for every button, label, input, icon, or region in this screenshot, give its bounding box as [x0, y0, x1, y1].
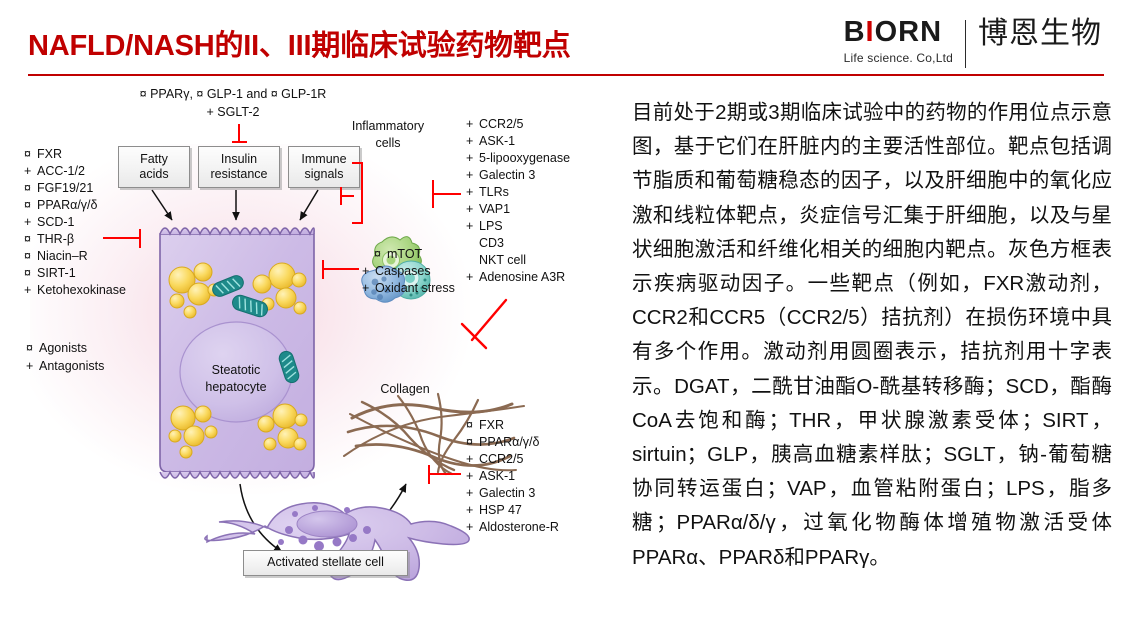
target-marker: ¤ — [24, 265, 37, 282]
target-marker: + — [466, 468, 479, 485]
target-label: ACC-1/2 — [37, 164, 85, 178]
collagen-label: Collagen — [350, 382, 460, 396]
hepatocyte-label-line2: hepatocyte — [186, 379, 286, 396]
target-label: Galectin 3 — [479, 486, 535, 500]
inflammatory-target-item: +VAP1 — [466, 201, 510, 218]
inflammatory-target-item: +LPS — [466, 218, 503, 235]
slide-root: NAFLD/NASH的II、III期临床试验药物靶点 BIORN Life sc… — [0, 0, 1134, 638]
target-label: Adenosine A3R — [479, 270, 565, 284]
stellate-cell-caption-text: Activated stellate cell — [267, 555, 384, 569]
inflammatory-target-item: +ASK-1 — [466, 133, 515, 150]
left-target-item: ¤PPARα/γ/δ — [24, 197, 98, 214]
target-marker: + — [466, 485, 479, 502]
stellate-target-item: +ASK-1 — [466, 468, 515, 485]
inflammatory-target-item: +TLRs — [466, 184, 509, 201]
target-marker: + — [466, 218, 479, 235]
target-label: PPARα/γ/δ — [37, 198, 98, 212]
left-target-item: +ACC-1/2 — [24, 163, 85, 180]
target-marker: ¤ — [24, 180, 37, 197]
target-label: TLRs — [479, 185, 509, 199]
driver-box-immune-line2: signals — [289, 167, 359, 182]
target-marker: + — [466, 116, 479, 133]
logo-latin-block: BIORN Life science. Co,Ltd — [844, 18, 965, 65]
target-label: FXR — [37, 147, 62, 161]
driver-box-insulin-resistance[interactable]: Insulin resistance — [198, 146, 280, 188]
target-label: mTOT — [387, 247, 422, 261]
inflammatory-target-item: +5-lipooxygenase — [466, 150, 570, 167]
target-label: CCR2/5 — [479, 117, 523, 131]
target-marker: + — [362, 280, 375, 297]
target-marker: + — [466, 184, 479, 201]
stellate-target-item: ¤FXR — [466, 417, 504, 434]
logo-word-before: B — [844, 16, 866, 48]
mito-target-item: +Oxidant stress — [362, 280, 455, 297]
target-marker: ¤ — [374, 246, 387, 263]
target-marker: + — [466, 451, 479, 468]
left-target-item: +Ketohexokinase — [24, 282, 126, 299]
left-target-item: ¤SIRT-1 — [24, 265, 76, 282]
stellate-cell-caption-box[interactable]: Activated stellate cell — [243, 550, 408, 576]
target-label: VAP1 — [479, 202, 510, 216]
target-marker: ¤ — [466, 417, 479, 434]
logo-tagline: Life science. Co,Ltd — [844, 51, 953, 65]
stellate-target-item: +Aldosterone-R — [466, 519, 559, 536]
driver-box-fatty-acids-line2: acids — [119, 167, 189, 182]
inhibitor-mark-collagen — [460, 284, 550, 354]
target-marker: + — [24, 282, 37, 299]
description-text: 目前处于2期或3期临床试验中的药物的作用位点示意图，基于它们在肝脏内的主要活性部… — [632, 96, 1112, 575]
target-label: FGF19/21 — [37, 181, 93, 195]
target-marker: + — [466, 519, 479, 536]
target-marker: + — [466, 201, 479, 218]
driver-box-immune-line1: Immune — [289, 152, 359, 167]
stellate-target-item: +Galectin 3 — [466, 485, 535, 502]
driver-box-fatty-acids[interactable]: Fatty acids — [118, 146, 190, 188]
bracket-inflammatory-left — [352, 162, 363, 224]
stellate-target-item: +CCR2/5 — [466, 451, 523, 468]
target-marker: ¤ — [24, 197, 37, 214]
inflammatory-target-item: +CCR2/5 — [466, 116, 523, 133]
target-label: SIRT-1 — [37, 266, 76, 280]
target-marker: + — [466, 150, 479, 167]
target-label: Aldosterone-R — [479, 520, 559, 534]
legend-label-antagonist: Antagonists — [39, 359, 104, 373]
company-logo: BIORN Life science. Co,Ltd 博恩生物 — [844, 18, 1102, 74]
target-label: Caspases — [375, 264, 431, 278]
legend-item-antagonists: +Antagonists — [26, 358, 104, 375]
top-annotation-line2: + SGLT-2 — [108, 104, 358, 121]
target-label: Ketohexokinase — [37, 283, 126, 297]
target-marker: ¤ — [24, 248, 37, 265]
target-label: CD3 — [479, 236, 504, 250]
top-annotation-line1: ¤ PPARγ, ¤ GLP-1 and ¤ GLP-1R — [108, 86, 358, 103]
target-label: Galectin 3 — [479, 168, 535, 182]
legend-item-agonists: ¤Agonists — [26, 340, 87, 357]
target-label: CCR2/5 — [479, 452, 523, 466]
driver-box-fatty-acids-line1: Fatty — [119, 152, 189, 167]
target-label: ASK-1 — [479, 134, 515, 148]
target-label: HSP 47 — [479, 503, 522, 517]
target-label: ASK-1 — [479, 469, 515, 483]
target-label: SCD-1 — [37, 215, 75, 229]
target-marker: + — [466, 502, 479, 519]
inflammatory-cells-line1: Inflammatory — [338, 118, 438, 135]
hepatocyte-label-line1: Steatotic — [186, 362, 286, 379]
driver-box-immune-signals[interactable]: Immune signals — [288, 146, 360, 188]
target-marker: + — [24, 214, 37, 231]
legend-marker-antagonist: + — [26, 358, 39, 375]
page-title: NAFLD/NASH的II、III期临床试验药物靶点 — [28, 22, 571, 64]
target-label: THR-β — [37, 232, 74, 246]
target-marker: + — [24, 163, 37, 180]
mito-target-item: ¤mTOT — [374, 246, 422, 263]
target-marker: + — [362, 263, 375, 280]
target-marker: + — [466, 133, 479, 150]
inflammatory-target-item: NKT cell — [466, 252, 526, 269]
logo-chinese-name: 博恩生物 — [978, 18, 1102, 50]
left-target-item: ¤FGF19/21 — [24, 180, 93, 197]
mito-target-item: +Caspases — [362, 263, 431, 280]
left-target-item: ¤FXR — [24, 146, 62, 163]
target-label: LPS — [479, 219, 503, 233]
logo-word-after: ORN — [875, 16, 942, 48]
target-label: NKT cell — [479, 253, 526, 267]
target-label: PPARα/γ/δ — [479, 435, 540, 449]
target-marker: ¤ — [24, 146, 37, 163]
header-divider-rule — [28, 74, 1104, 76]
logo-divider — [965, 20, 966, 68]
hepatocyte-label: Steatotic hepatocyte — [186, 362, 286, 396]
inflammatory-target-item: +Galectin 3 — [466, 167, 535, 184]
target-label: Oxidant stress — [375, 281, 455, 295]
target-marker: + — [466, 167, 479, 184]
legend-label-agonist: Agonists — [39, 341, 87, 355]
target-label: FXR — [479, 418, 504, 432]
target-label: 5-lipooxygenase — [479, 151, 570, 165]
left-target-item: ¤Niacin–R — [24, 248, 88, 265]
driver-box-insulin-line2: resistance — [199, 167, 279, 182]
legend-marker-agonist: ¤ — [26, 340, 39, 357]
inflammatory-cells-line2: cells — [338, 135, 438, 152]
left-target-item: +SCD-1 — [24, 214, 75, 231]
logo-word-i: I — [866, 16, 875, 48]
inflammatory-target-item: CD3 — [466, 235, 504, 252]
left-target-item: ¤THR-β — [24, 231, 74, 248]
logo-wordmark: BIORN — [844, 18, 942, 47]
target-marker: ¤ — [466, 434, 479, 451]
target-marker: ¤ — [24, 231, 37, 248]
inflammatory-cells-label: Inflammatory cells — [338, 118, 438, 152]
nash-target-diagram: Fatty acids Insulin resistance Immune si… — [0, 84, 625, 638]
target-label: Niacin–R — [37, 249, 88, 263]
driver-box-insulin-line1: Insulin — [199, 152, 279, 167]
stellate-target-item: +HSP 47 — [466, 502, 522, 519]
stellate-target-item: ¤PPARα/γ/δ — [466, 434, 540, 451]
